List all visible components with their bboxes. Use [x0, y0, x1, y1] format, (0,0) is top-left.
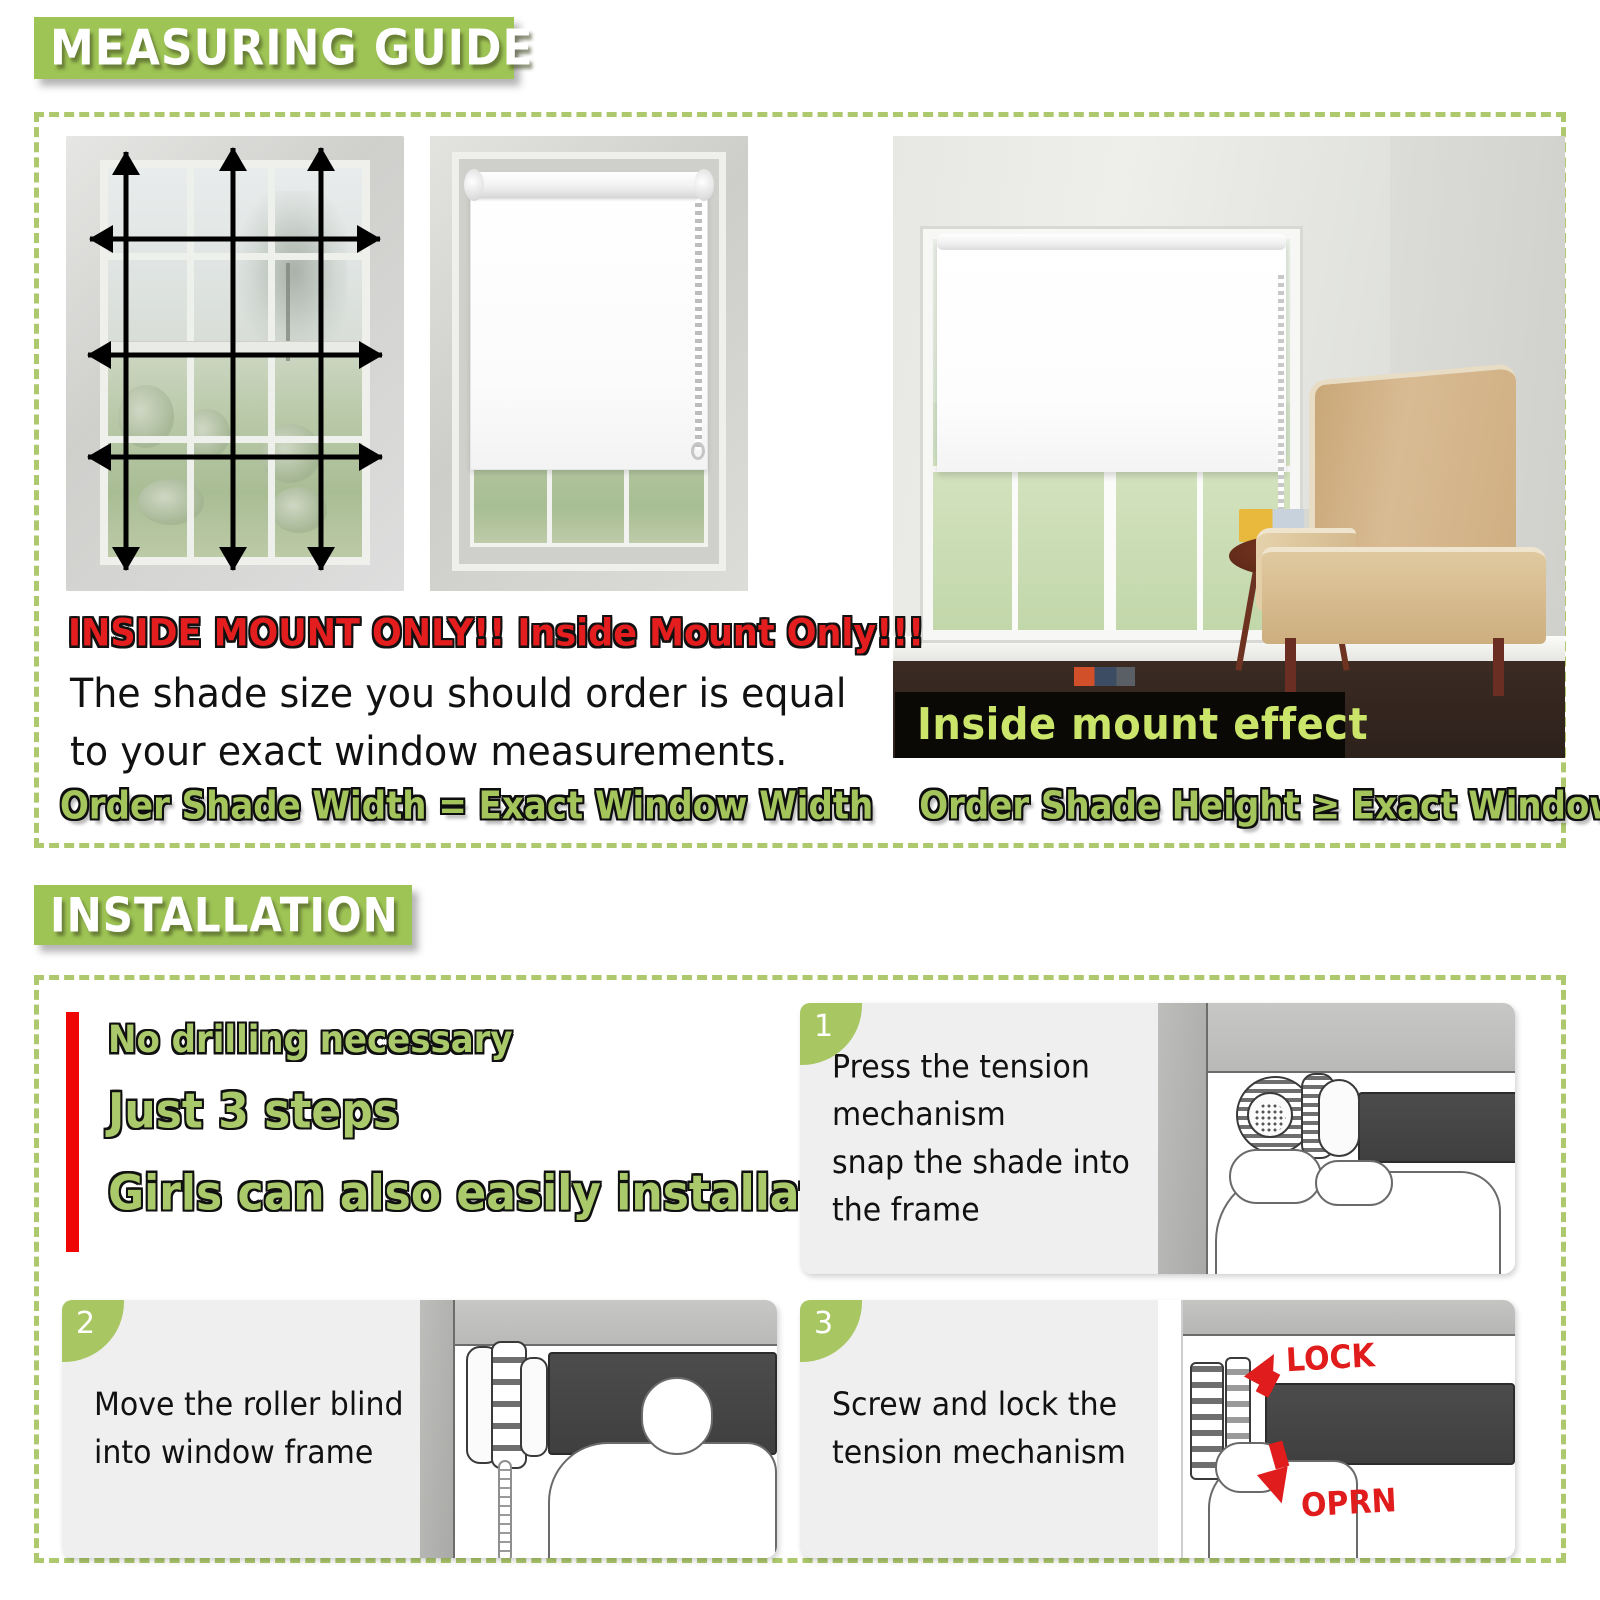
roller-tube [1358, 1092, 1515, 1162]
frame-top-surface [420, 1300, 778, 1346]
floor-objects [1074, 667, 1134, 687]
installation-step-3: Screw and lock the tension mechanism LOC… [800, 1300, 1515, 1558]
finger-outline [1315, 1160, 1394, 1206]
order-height-formula: Order Shade Height ≥ Exact Window Height [919, 784, 1600, 829]
step-3-line-1: Screw and lock the [832, 1381, 1158, 1429]
shade-size-note: The shade size you should order is equal… [70, 665, 860, 781]
frame-side-surface [1158, 1003, 1208, 1274]
step-1-illustration [1158, 1003, 1516, 1274]
highlight-three-steps: Just 3 steps [108, 1083, 399, 1139]
frame-top-surface [1158, 1300, 1516, 1336]
step-3-illustration: LOCK OPRN [1158, 1300, 1516, 1558]
inside-mount-effect-label: Inside mount effect [895, 692, 1345, 758]
frame-side-surface [420, 1300, 456, 1558]
width-arrow-top [90, 224, 380, 254]
roller-blind [1265, 1383, 1515, 1466]
shade-chain-loop [691, 442, 705, 460]
step-1-text: Press the tension mechanism snap the sha… [800, 1003, 1158, 1274]
installation-banner: INSTALLATION [34, 885, 412, 945]
measuring-guide-banner: MEASURING GUIDE [34, 17, 514, 79]
installation-step-1: Press the tension mechanism snap the sha… [800, 1003, 1515, 1274]
room-interior-photo [893, 136, 1565, 758]
step-2-number: 2 [76, 1306, 95, 1341]
step-1-line-1: Press the tension mechanism [832, 1043, 1158, 1138]
step-2-text: Move the roller blind into window frame [62, 1300, 420, 1558]
shade-roller-tube [467, 172, 711, 197]
step-2-line-2: into window frame [94, 1429, 420, 1477]
frame-top-surface [1158, 1003, 1516, 1073]
open-label: OPRN [1300, 1482, 1397, 1525]
inside-mount-effect-text: Inside mount effect [917, 700, 1368, 750]
armchair-seat [1262, 547, 1546, 644]
window-measurement-diagram [66, 136, 404, 591]
shade-end-cap [694, 169, 714, 201]
installation-step-2: Move the roller blind into window frame [62, 1300, 777, 1558]
step-3-line-2: tension mechanism [832, 1429, 1158, 1477]
step-3-text: Screw and lock the tension mechanism [800, 1300, 1158, 1558]
width-arrow-bottom [88, 441, 382, 473]
index-finger-outline [641, 1377, 713, 1454]
lock-label: LOCK [1285, 1337, 1376, 1380]
installation-title: INSTALLATION [50, 888, 399, 943]
mechanism-collar [520, 1357, 548, 1457]
step-1-line-2: snap the shade into the frame [832, 1139, 1158, 1234]
bead-chain [498, 1460, 512, 1558]
inside-mount-warning: INSIDE MOUNT ONLY!! Inside Mount Only!!! [68, 613, 868, 655]
infographic-page: MEASURING GUIDE [0, 0, 1600, 1600]
shade-window-recess [452, 152, 725, 571]
roller-shade-product-image [430, 136, 748, 591]
installation-highlights: No drilling necessary Just 3 steps Girls… [66, 1008, 786, 1258]
width-arrow-middle [88, 339, 382, 371]
highlight-no-drilling: No drilling necessary [108, 1018, 513, 1062]
red-accent-bar [66, 1012, 79, 1252]
step-1-number: 1 [814, 1009, 833, 1044]
measuring-guide-title: MEASURING GUIDE [50, 19, 534, 76]
installed-shade-tube [937, 234, 1286, 250]
installed-roller-shade [937, 241, 1286, 471]
tension-mechanism-cap [1318, 1079, 1360, 1157]
step-2-line-1: Move the roller blind [94, 1381, 420, 1429]
step-3-number: 3 [814, 1306, 833, 1341]
armchair [1256, 372, 1552, 695]
order-formula-row: Order Shade Width = Exact Window Width O… [60, 786, 1560, 826]
frame-edge [1158, 1300, 1183, 1558]
highlight-easy-install: Girls can also easily installation [108, 1165, 897, 1221]
shade-fabric [470, 187, 709, 470]
shade-bead-chain [695, 199, 702, 450]
step-2-illustration [420, 1300, 778, 1558]
order-width-formula: Order Shade Width = Exact Window Width [60, 784, 873, 829]
thumb-outline [1229, 1149, 1322, 1203]
hand-outline [548, 1442, 777, 1558]
